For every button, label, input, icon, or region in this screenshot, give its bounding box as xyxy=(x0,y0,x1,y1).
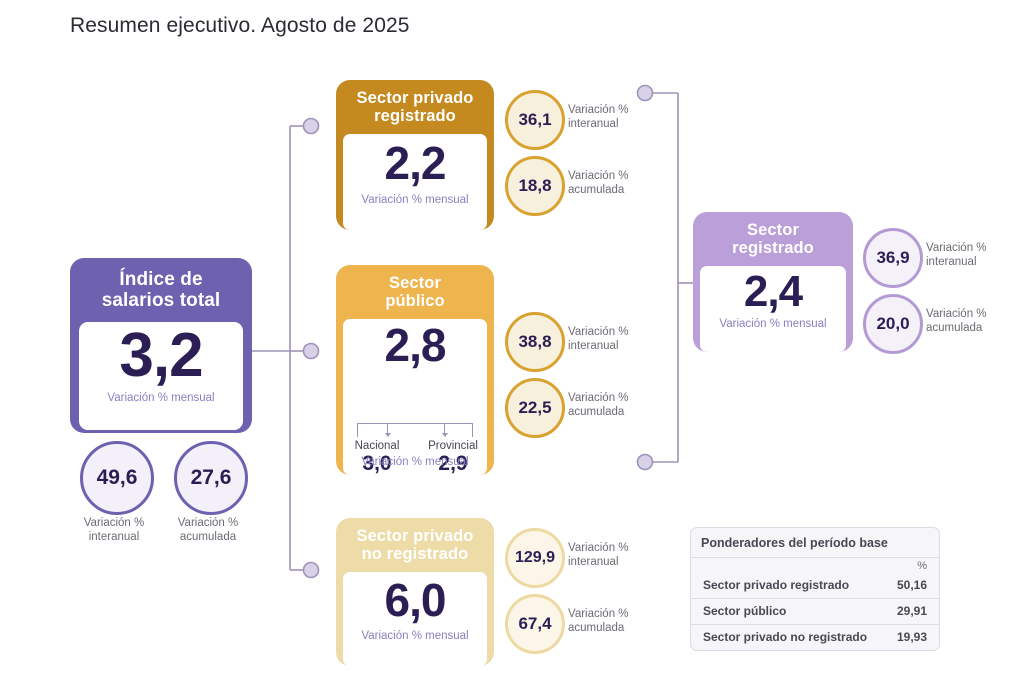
subsplit-label-provincial: Provincial xyxy=(423,440,483,452)
spnr-circle-interanual-label: Variación % interanual xyxy=(568,541,648,569)
spnr-circle-acumulada-value: 67,4 xyxy=(518,614,551,634)
spnr-circle-acumulada[interactable]: 67,4 xyxy=(505,594,565,654)
card-sp-body: 2,8 Nacional 3,0 Provincial 2,9 xyxy=(343,319,487,475)
infographic-canvas: Resumen ejecutivo. Agosto de 2025 Índice… xyxy=(0,0,1024,679)
card-sp-header: Sector público xyxy=(336,265,494,319)
weights-row-value: 29,91 xyxy=(897,604,927,618)
spr-circle-acumulada-label: Variación % acumulada xyxy=(568,169,648,197)
sr-circle-acumulada[interactable]: 20,0 xyxy=(863,294,923,354)
page-title: Resumen ejecutivo. Agosto de 2025 xyxy=(70,14,410,38)
spr-circle-interanual-value: 36,1 xyxy=(518,110,551,130)
card-spnr-value: 6,0 xyxy=(385,578,446,623)
card-sp-title-line1: Sector xyxy=(342,274,488,292)
card-spr-header: Sector privado registrado xyxy=(336,80,494,134)
sp-circle-acumulada[interactable]: 22,5 xyxy=(505,378,565,438)
sp-circle-interanual[interactable]: 38,8 xyxy=(505,312,565,372)
table-row: Sector privado no registrado 19,93 xyxy=(691,625,939,650)
spr-circle-acumulada-value: 18,8 xyxy=(518,176,551,196)
connector-node-right-bottom xyxy=(638,455,653,470)
table-row: Sector privado registrado 50,16 xyxy=(691,573,939,599)
sp-circle-acumulada-label: Variación % acumulada xyxy=(568,391,648,419)
card-sector-privado-no-registrado[interactable]: Sector privado no registrado 6,0 Variaci… xyxy=(336,518,494,666)
weights-table-unit-header: % xyxy=(691,558,939,573)
card-sector-registrado[interactable]: Sector registrado 2,4 Variación % mensua… xyxy=(693,212,853,352)
spr-circle-interanual-label: Variación % interanual xyxy=(568,103,648,131)
total-circle-acumulada-label: Variación % acumulada xyxy=(162,516,254,544)
weights-row-value: 50,16 xyxy=(897,578,927,592)
subsplit-bracket xyxy=(357,423,473,437)
total-circle-acumulada-value: 27,6 xyxy=(191,466,232,490)
weights-row-label: Sector privado no registrado xyxy=(703,630,867,644)
card-spr-title-line2: registrado xyxy=(342,107,488,125)
card-indice-salarios-total[interactable]: Índice de salarios total 3,2 Variación %… xyxy=(70,258,252,433)
card-sr-body: 2,4 Variación % mensual xyxy=(700,266,846,352)
total-circle-acumulada[interactable]: 27,6 xyxy=(174,441,248,515)
connector-node-spnr xyxy=(304,563,319,578)
sp-circle-interanual-value: 38,8 xyxy=(518,332,551,352)
sr-circle-interanual-value: 36,9 xyxy=(876,248,909,268)
total-circle-interanual[interactable]: 49,6 xyxy=(80,441,154,515)
card-sp-value: 2,8 xyxy=(385,323,446,368)
sp-circle-acumulada-value: 22,5 xyxy=(518,398,551,418)
connector-node-right-top xyxy=(638,86,653,101)
card-total-value: 3,2 xyxy=(119,326,202,387)
connector-node-sp xyxy=(304,344,319,359)
subsplit-tick-provincial xyxy=(444,424,445,433)
card-spnr-body: 6,0 Variación % mensual xyxy=(343,572,487,666)
card-total-caption: Variación % mensual xyxy=(107,392,214,404)
sr-circle-acumulada-label: Variación % acumulada xyxy=(926,307,1012,335)
sp-circle-interanual-label: Variación % interanual xyxy=(568,325,648,353)
weights-table: Ponderadores del período base % Sector p… xyxy=(690,527,940,651)
card-sp-title-line2: público xyxy=(342,292,488,310)
sr-circle-interanual-label: Variación % interanual xyxy=(926,241,1012,269)
subsplit-label-nacional: Nacional xyxy=(347,440,407,452)
card-sr-value: 2,4 xyxy=(744,270,802,313)
spr-circle-interanual[interactable]: 36,1 xyxy=(505,90,565,150)
card-sp-caption: Variación % mensual xyxy=(343,456,487,468)
card-sr-header: Sector registrado xyxy=(693,212,853,266)
weights-row-label: Sector público xyxy=(703,604,786,618)
card-spr-title-line1: Sector privado xyxy=(342,89,488,107)
spr-circle-acumulada[interactable]: 18,8 xyxy=(505,156,565,216)
spnr-circle-acumulada-label: Variación % acumulada xyxy=(568,607,648,635)
card-sector-privado-registrado[interactable]: Sector privado registrado 2,2 Variación … xyxy=(336,80,494,230)
card-spnr-title-line1: Sector privado xyxy=(342,527,488,545)
card-sr-caption: Variación % mensual xyxy=(719,318,826,330)
weights-table-title: Ponderadores del período base xyxy=(691,528,939,558)
table-row: Sector público 29,91 xyxy=(691,599,939,625)
card-total-body: 3,2 Variación % mensual xyxy=(79,322,243,430)
total-circle-interanual-label: Variación % interanual xyxy=(68,516,160,544)
weights-row-value: 19,93 xyxy=(897,630,927,644)
spnr-circle-interanual-value: 129,9 xyxy=(515,549,555,567)
card-total-title-line1: Índice de xyxy=(76,269,246,290)
card-spr-value: 2,2 xyxy=(385,141,446,186)
card-spnr-caption: Variación % mensual xyxy=(361,630,468,642)
card-sr-title-line2: registrado xyxy=(699,239,847,257)
connector-node-spr xyxy=(304,119,319,134)
subsplit-tick-nacional xyxy=(387,424,388,433)
weights-row-label: Sector privado registrado xyxy=(703,578,849,592)
total-circle-interanual-value: 49,6 xyxy=(97,466,138,490)
sr-circle-interanual[interactable]: 36,9 xyxy=(863,228,923,288)
sr-circle-acumulada-value: 20,0 xyxy=(876,314,909,334)
card-spnr-header: Sector privado no registrado xyxy=(336,518,494,572)
card-spr-body: 2,2 Variación % mensual xyxy=(343,134,487,230)
card-spnr-title-line2: no registrado xyxy=(342,545,488,563)
card-total-title-line2: salarios total xyxy=(76,290,246,311)
card-sr-title-line1: Sector xyxy=(699,221,847,239)
card-total-header: Índice de salarios total xyxy=(70,258,252,322)
card-sector-publico[interactable]: Sector público 2,8 Nacional 3,0 Provinci… xyxy=(336,265,494,475)
card-spr-caption: Variación % mensual xyxy=(361,194,468,206)
spnr-circle-interanual[interactable]: 129,9 xyxy=(505,528,565,588)
